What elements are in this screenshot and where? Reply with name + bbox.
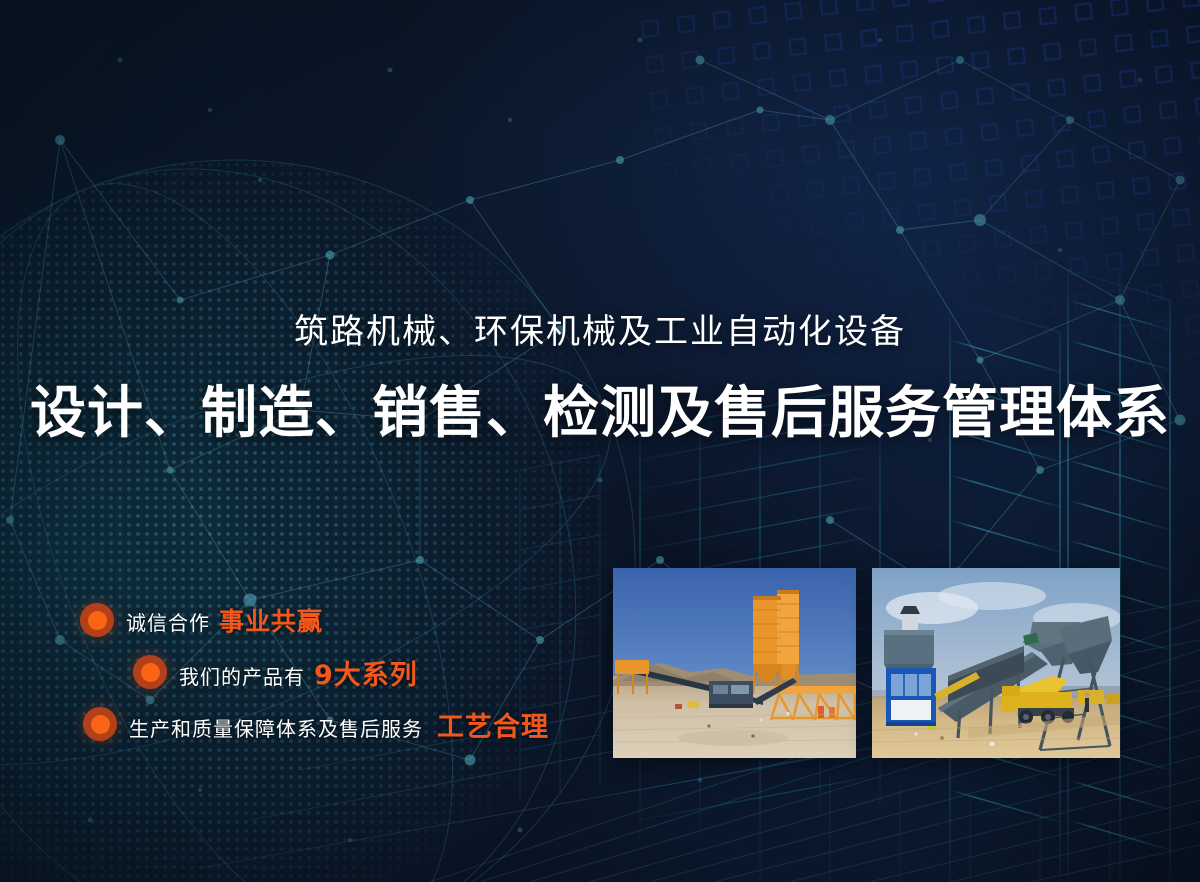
banner-content: 筑路机械、环保机械及工业自动化设备 设计、制造、销售、检测及售后服务管理体系 诚… bbox=[0, 0, 1200, 882]
banner-headline: 设计、制造、销售、检测及售后服务管理体系 bbox=[0, 368, 1200, 449]
promo-banner: 筑路机械、环保机械及工业自动化设备 设计、制造、销售、检测及售后服务管理体系 诚… bbox=[0, 0, 1200, 882]
bullet-highlight-text: 工艺合理 bbox=[437, 712, 549, 743]
bullet-highlight-text: 事业共赢 bbox=[219, 607, 323, 636]
feature-bullet-list: 诚信合作事业共赢 我们的产品有9大系列 生产和质量保障体系及售后服务工艺合理 bbox=[0, 596, 600, 752]
list-item: 我们的产品有9大系列 bbox=[0, 648, 600, 696]
concrete-batching-plant-photo bbox=[613, 568, 856, 758]
bullet-dot-icon bbox=[83, 707, 117, 741]
banner-subtitle: 筑路机械、环保机械及工业自动化设备 bbox=[0, 304, 1200, 353]
bullet-plain-text: 我们的产品有 bbox=[179, 665, 305, 689]
list-item: 诚信合作事业共赢 bbox=[0, 596, 600, 644]
stabilized-soil-mixing-plant-photo bbox=[872, 568, 1120, 758]
bullet-highlight-text: 9大系列 bbox=[314, 660, 418, 691]
bullet-text: 生产和质量保障体系及售后服务工艺合理 bbox=[129, 705, 549, 744]
list-item: 生产和质量保障体系及售后服务工艺合理 bbox=[0, 700, 600, 748]
bullet-plain-text: 诚信合作 bbox=[126, 611, 210, 635]
bullet-text: 诚信合作事业共赢 bbox=[126, 602, 323, 638]
bullet-dot-icon bbox=[80, 603, 114, 637]
bullet-text: 我们的产品有9大系列 bbox=[179, 653, 418, 692]
bullet-plain-text: 生产和质量保障体系及售后服务 bbox=[129, 717, 423, 741]
bullet-dot-icon bbox=[133, 655, 167, 689]
